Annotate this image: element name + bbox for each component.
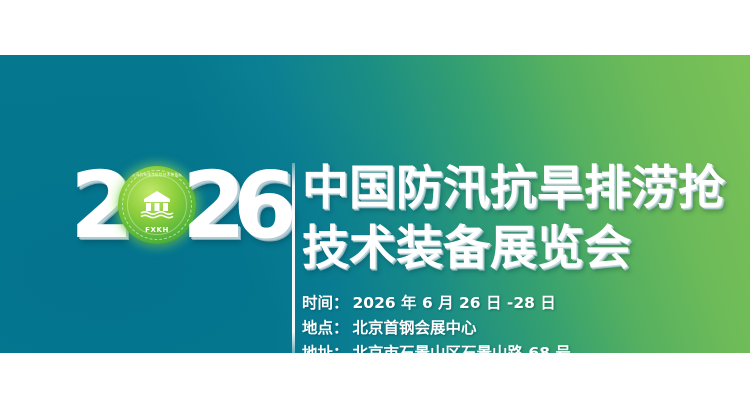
headline-line-2: 技术装备展览会 xyxy=(302,219,750,279)
detail-value-address: 北京市石景山区石景山路 68 号 xyxy=(353,344,571,353)
event-details: 时间：2026 年 6 月 26 日 -28 日 地点：北京首钢会展中心 地址：… xyxy=(302,291,750,353)
exhibition-poster: 2 中国防汛抗旱排涝抢险技术装备展览会 FXKH 2 6 中国 xyxy=(0,0,750,410)
headline-line-1: 中国防汛抗旱排涝抢 xyxy=(302,159,750,219)
detail-value-venue: 北京首钢会展中心 xyxy=(353,319,477,337)
detail-label-address: 地址： xyxy=(302,344,349,353)
dam-gate-waves-icon xyxy=(137,190,177,220)
detail-row-time: 时间：2026 年 6 月 26 日 -28 日 xyxy=(302,291,750,316)
detail-row-address: 地址：北京市石景山区石景山路 68 号 xyxy=(302,341,750,353)
vertical-divider xyxy=(292,163,295,353)
year-digit-4: 6 xyxy=(233,158,295,254)
detail-label-time: 时间： xyxy=(302,294,349,312)
year-2026-block: 2 中国防汛抗旱排涝抢险技术装备展览会 FXKH 2 6 xyxy=(70,158,288,254)
headline-and-details: 中国防汛抗旱排涝抢 技术装备展览会 时间：2026 年 6 月 26 日 -28… xyxy=(302,159,750,353)
detail-value-time: 2026 年 6 月 26 日 -28 日 xyxy=(353,294,556,312)
detail-label-venue: 地点： xyxy=(302,319,349,337)
detail-row-venue: 地点：北京首钢会展中心 xyxy=(302,316,750,341)
banner-background: 2 中国防汛抗旱排涝抢险技术装备展览会 FXKH 2 6 中国 xyxy=(0,55,750,353)
